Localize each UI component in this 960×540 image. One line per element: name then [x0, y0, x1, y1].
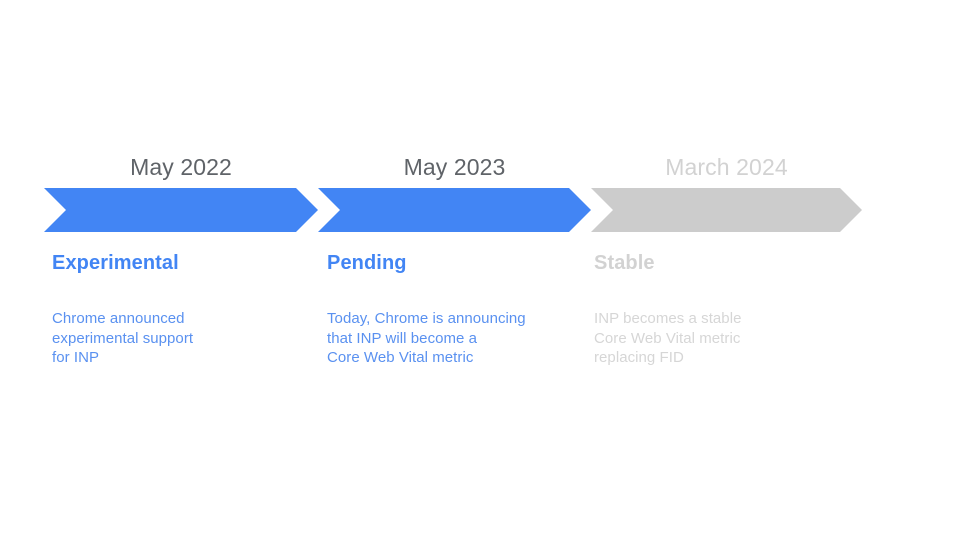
stage-column-stable: Stable INP becomes a stable Core Web Vit…: [594, 250, 844, 368]
chevron-arrow-stable: [591, 188, 862, 232]
stage-column-experimental: Experimental Chrome announced experiment…: [52, 250, 302, 368]
chevron-arrow-experimental: [44, 188, 318, 232]
description-line: for INP: [52, 348, 302, 368]
stage-description-stable: INP becomes a stable Core Web Vital metr…: [594, 276, 844, 368]
stage-title-pending: Pending: [327, 250, 582, 276]
description-line: Core Web Vital metric: [594, 329, 844, 349]
description-line: experimental support: [52, 329, 302, 349]
stage-title-experimental: Experimental: [52, 250, 302, 276]
stage-description-experimental: Chrome announced experimental support fo…: [52, 276, 302, 368]
stage-date-may-2022: May 2022: [44, 152, 318, 182]
stage-description-pending: Today, Chrome is announcing that INP wil…: [327, 276, 582, 368]
description-line: that INP will become a: [327, 329, 582, 349]
description-line: replacing FID: [594, 348, 844, 368]
description-line: Chrome announced: [52, 309, 302, 329]
stage-column-pending: Pending Today, Chrome is announcing that…: [327, 250, 582, 368]
description-line: Core Web Vital metric: [327, 348, 582, 368]
description-line: INP becomes a stable: [594, 309, 844, 329]
stage-date-march-2024: March 2024: [591, 152, 862, 182]
stage-date-may-2023: May 2023: [318, 152, 591, 182]
chevron-arrow-pending: [318, 188, 591, 232]
inp-timeline-figure: May 2022 May 2023 March 2024 Experimenta…: [0, 0, 960, 540]
stage-title-stable: Stable: [594, 250, 844, 276]
timeline-arrow-band: [0, 186, 960, 236]
description-line: Today, Chrome is announcing: [327, 309, 582, 329]
